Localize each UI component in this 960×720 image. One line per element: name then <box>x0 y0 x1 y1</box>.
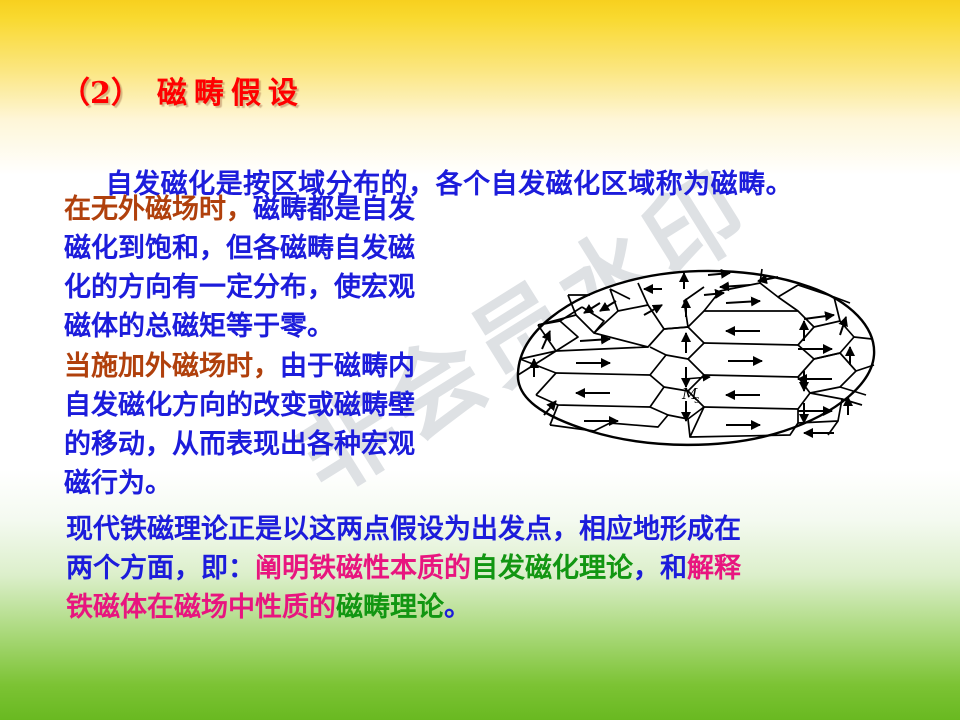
modern-theory-seg2: 阐明铁磁性本质的 <box>255 553 471 584</box>
paragraph-modern-theory: 现代铁磁理论正是以这两点假设为出发点，相应地形成在 两个方面，即：阐明铁磁性本质… <box>66 510 956 627</box>
paragraph-applied-field: 当施加外磁场时，由于磁畴内 自发磁化方向的改变或磁畴壁 的移动，从而表现出各种宏… <box>64 347 504 503</box>
slide-canvas: 非会员水印 （2）磁畴假设 自发磁化是按区域分布的，各个自发磁化区域称为磁畴。 … <box>0 0 960 720</box>
modern-theory-seg6: 磁畴理论 <box>336 592 444 623</box>
title-number: （2） <box>60 76 141 111</box>
paragraph-no-field-lead: 在无外磁场时， <box>64 194 253 225</box>
magnetic-domain-diagram: M s <box>498 255 888 455</box>
paragraph-applied-field-lead: 当施加外磁场时， <box>64 351 280 382</box>
ms-label-subscript: s <box>694 393 700 406</box>
page-title: （2）磁畴假设 <box>60 68 305 112</box>
paragraph-no-field: 在无外磁场时，磁畴都是自发 磁化到饱和，但各磁畴自发磁 化的方向有一定分布，使宏… <box>64 190 504 346</box>
title-headword: 磁畴假设 <box>157 76 305 111</box>
modern-theory-seg7: 。 <box>444 592 471 623</box>
modern-theory-seg4: ，和 <box>633 553 687 584</box>
modern-theory-seg3: 自发磁化理论 <box>471 553 633 584</box>
